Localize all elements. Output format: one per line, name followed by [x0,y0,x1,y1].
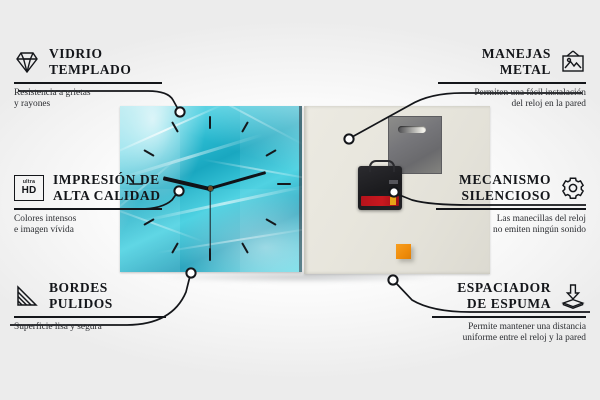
connector-dot-manejas [344,134,353,143]
feature-subtitle: Colores intensos e imagen vívida [14,214,190,237]
feature-manejas-metal: MANEJAS METAL Permiten una fácil instala… [410,46,586,110]
feature-rule [438,82,586,84]
infographic-canvas: VIDRIO TEMPLADO Resistencia a grietas y … [0,0,600,400]
feature-bordes-pulidos: BORDES PULIDOS Superficie lisa y segura [14,280,190,333]
ultra-hd-icon-top: ultra [23,180,35,185]
feature-title: MANEJAS METAL [482,46,551,77]
feature-mecanismo-silencioso: MECANISMO SILENCIOSO Las manecillas del … [408,172,586,236]
polished-edge-icon [14,283,40,309]
feature-title: ESPACIADOR DE ESPUMA [457,280,551,311]
connector-dot-espaciador [388,275,397,284]
feature-title: IMPRESIÓN DE ALTA CALIDAD [53,172,161,203]
feature-subtitle: Superficie lisa y segura [14,322,190,333]
picture-frame-icon [560,49,586,75]
connector-dot-mecanismo [389,187,398,196]
feature-subtitle: Permiten una fácil instalación del reloj… [410,88,586,111]
ultra-hd-icon: ultra HD [14,175,44,201]
feature-subtitle: Permite mantener una distancia uniforme … [404,322,586,345]
feature-impresion-alta-calidad: ultra HD IMPRESIÓN DE ALTA CALIDAD Color… [14,172,190,236]
feature-subtitle: Resistencia a grietas y rayones [14,88,190,111]
feature-rule [14,316,166,318]
feature-rule [436,208,586,210]
feature-rule [14,208,162,210]
feature-espaciador-espuma: ESPACIADOR DE ESPUMA Permite mantener un… [404,280,586,344]
feature-title: MECANISMO SILENCIOSO [459,172,551,203]
diamond-icon [14,49,40,75]
connector-dot-bordes [186,268,195,277]
feature-title: BORDES PULIDOS [49,280,113,311]
feature-vidrio-templado: VIDRIO TEMPLADO Resistencia a grietas y … [14,46,190,110]
gear-icon [560,175,586,201]
feature-title: VIDRIO TEMPLADO [49,46,131,77]
feature-subtitle: Las manecillas del reloj no emiten ningú… [408,214,586,237]
feature-rule [14,82,162,84]
feature-rule [432,316,586,318]
ultra-hd-icon-bottom: HD [22,186,37,196]
foam-spacer-icon [560,283,586,309]
